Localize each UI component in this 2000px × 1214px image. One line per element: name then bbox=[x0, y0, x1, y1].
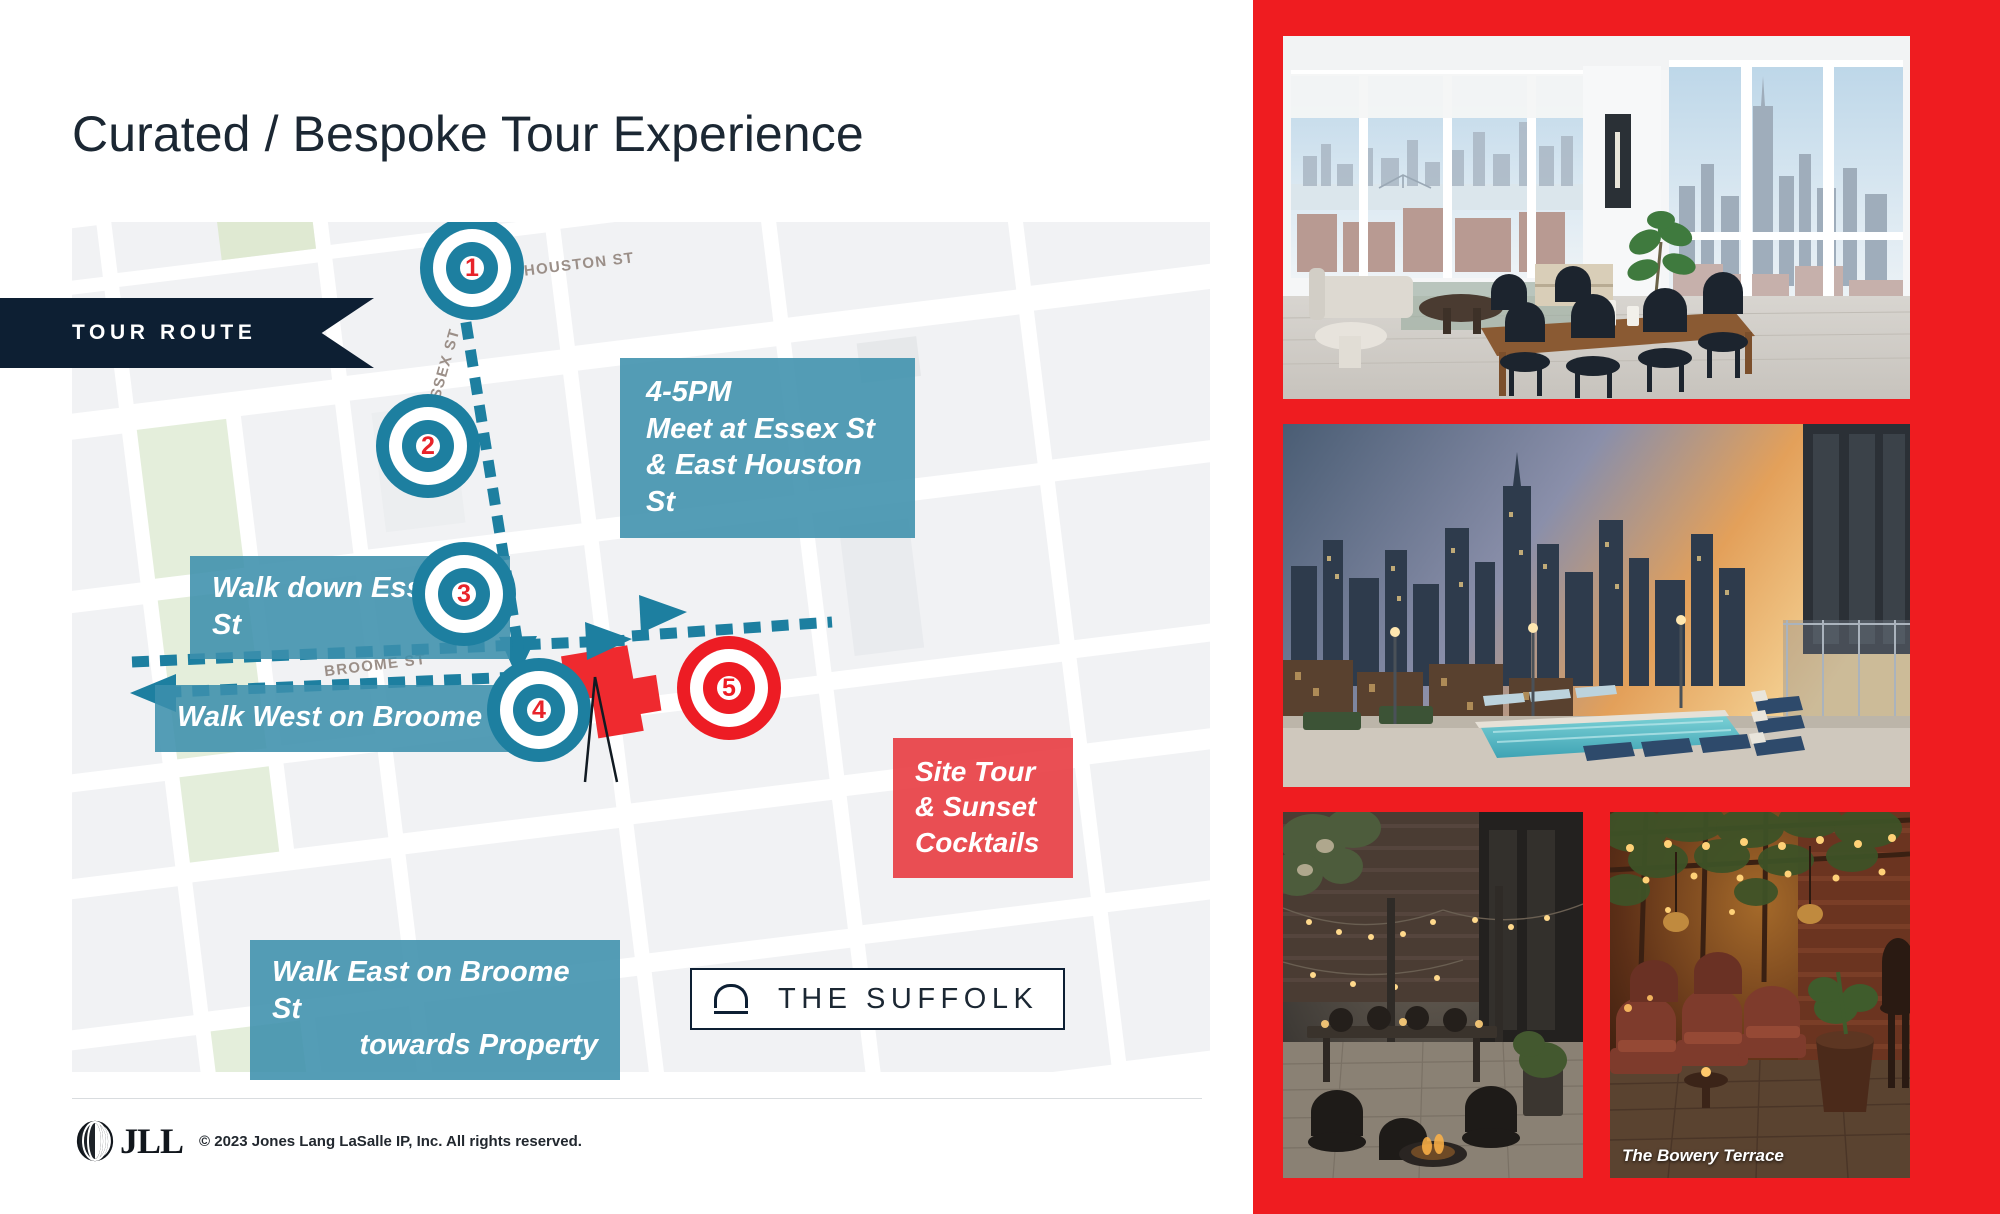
photo-bowery-terrace-caption: The Bowery Terrace bbox=[1622, 1146, 1784, 1166]
photo-bowery-terrace-art bbox=[1610, 812, 1910, 1178]
jll-logo: JLL bbox=[72, 1120, 183, 1162]
property-name: THE SUFFOLK bbox=[778, 983, 1038, 1016]
slide-root: Curated / Bespoke Tour Experience bbox=[0, 0, 2000, 1214]
photo-rooftop-pool-art bbox=[1283, 424, 1910, 787]
footer-divider bbox=[72, 1098, 1202, 1099]
property-logo-box: THE SUFFOLK bbox=[690, 968, 1065, 1030]
copyright-text: © 2023 Jones Lang LaSalle IP, Inc. All r… bbox=[199, 1133, 582, 1150]
left-content-panel: Curated / Bespoke Tour Experience bbox=[0, 0, 1253, 1214]
tour-route-ribbon: TOUR ROUTE bbox=[0, 298, 374, 368]
photo-rooftop-pool[interactable] bbox=[1283, 424, 1910, 787]
footer: JLL © 2023 Jones Lang LaSalle IP, Inc. A… bbox=[72, 1120, 582, 1162]
tour-route-ribbon-label: TOUR ROUTE bbox=[72, 321, 256, 345]
photo-terrace-lounge-art bbox=[1283, 812, 1583, 1178]
page-title: Curated / Bespoke Tour Experience bbox=[72, 105, 864, 163]
jll-wordmark: JLL bbox=[120, 1120, 183, 1162]
jll-swirl-icon bbox=[72, 1120, 118, 1162]
photo-bowery-terrace[interactable]: The Bowery Terrace bbox=[1610, 812, 1910, 1178]
photo-interior-skyline[interactable] bbox=[1283, 36, 1910, 399]
photo-interior-skyline-art bbox=[1283, 36, 1910, 399]
suffolk-arch-icon bbox=[714, 984, 748, 1014]
photo-terrace-lounge[interactable] bbox=[1283, 812, 1583, 1178]
